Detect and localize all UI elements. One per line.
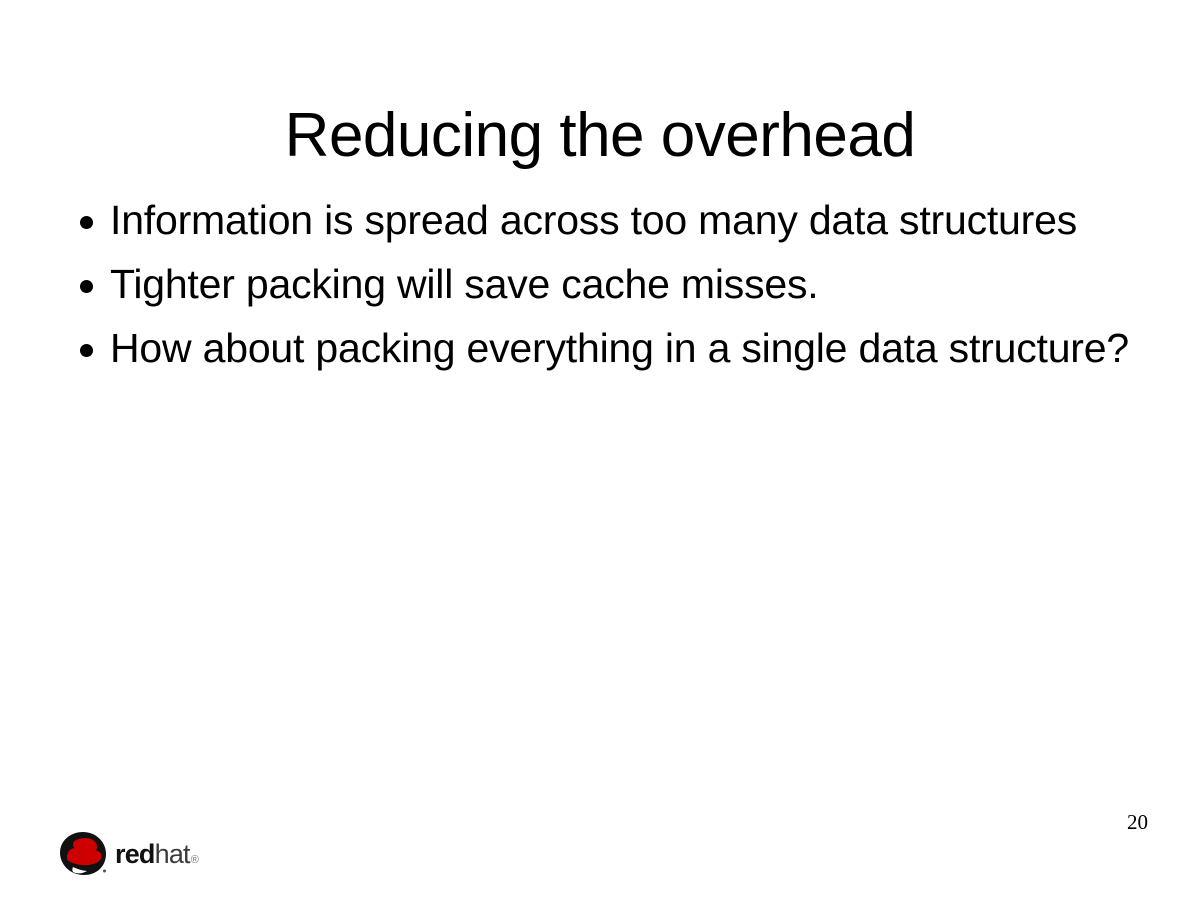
bullet-dot-icon: [62, 326, 110, 357]
wordmark-hat: hat: [155, 841, 190, 868]
bullet-list: Information is spread across too many da…: [62, 198, 1132, 390]
list-item: Tighter packing will save cache misses.: [62, 262, 1132, 308]
slide: Reducing the overhead Information is spr…: [0, 0, 1200, 900]
bullet-text: Tighter packing will save cache misses.: [110, 262, 1132, 308]
page-title: Reducing the overhead: [0, 102, 1200, 170]
list-item: How about packing everything in a single…: [62, 326, 1132, 372]
bullet-text: How about packing everything in a single…: [110, 326, 1132, 372]
trademark-symbol: ®: [191, 855, 198, 866]
bullet-dot-icon: [62, 198, 110, 229]
bullet-dot-icon: [62, 262, 110, 293]
redhat-logo: red hat ®: [58, 828, 198, 880]
list-item: Information is spread across too many da…: [62, 198, 1132, 244]
redhat-shadowman-icon: [58, 831, 108, 877]
page-number: 20: [1127, 812, 1148, 833]
bullet-text: Information is spread across too many da…: [110, 198, 1132, 244]
wordmark-red: red: [115, 841, 155, 868]
redhat-wordmark: red hat ®: [115, 841, 198, 868]
